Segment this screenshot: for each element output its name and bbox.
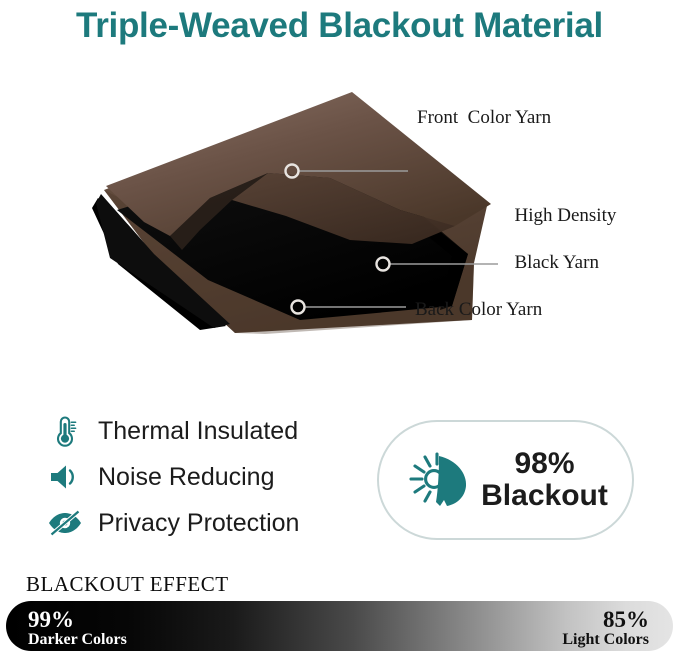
feature-row-thermal-insulated: Thermal Insulated (44, 408, 364, 454)
blackout-effect-heading: BLACKOUT EFFECT (26, 572, 229, 597)
feature-list: Thermal Insulated Noise Reducing Privacy… (44, 408, 364, 546)
badge-word: Blackout (481, 480, 608, 512)
feature-row-noise-reducing: Noise Reducing (44, 454, 364, 500)
gradient-stat-light-percent: 85% (562, 608, 649, 632)
gradient-stat-light: 85% Light Colors (562, 608, 649, 649)
speaker-icon (44, 457, 86, 497)
feature-label: Privacy Protection (98, 509, 299, 538)
blackout-badge: 98% Blackout (377, 420, 634, 540)
gradient-stat-darker: 99% Darker Colors (28, 608, 127, 649)
gradient-stat-darker-percent: 99% (28, 608, 127, 632)
feature-label: Thermal Insulated (98, 417, 298, 446)
diagram-label-high-density-black-yarn: High Density Black Yarn (505, 180, 616, 275)
feature-label: Noise Reducing (98, 463, 275, 492)
badge-text: 98% Blackout (481, 448, 608, 513)
badge-percent: 98% (481, 448, 608, 480)
blackout-effect-gradient-bar: 99% Darker Colors 85% Light Colors (6, 601, 673, 651)
diagram-label-line1: High Density (515, 205, 617, 226)
diagram-label-front-color-yarn: Front Color Yarn (417, 106, 551, 130)
sun-blocked-icon (403, 444, 475, 516)
gradient-stat-light-caption: Light Colors (562, 632, 649, 649)
diagram-label-back-color-yarn: Back Color Yarn (415, 298, 542, 322)
diagram-label-line2: Black Yarn (515, 252, 599, 273)
gradient-stat-darker-caption: Darker Colors (28, 632, 127, 649)
thermometer-icon (44, 411, 86, 451)
eye-off-icon (44, 503, 86, 543)
page-title: Triple-Weaved Blackout Material (0, 0, 679, 52)
feature-row-privacy-protection: Privacy Protection (44, 500, 364, 546)
